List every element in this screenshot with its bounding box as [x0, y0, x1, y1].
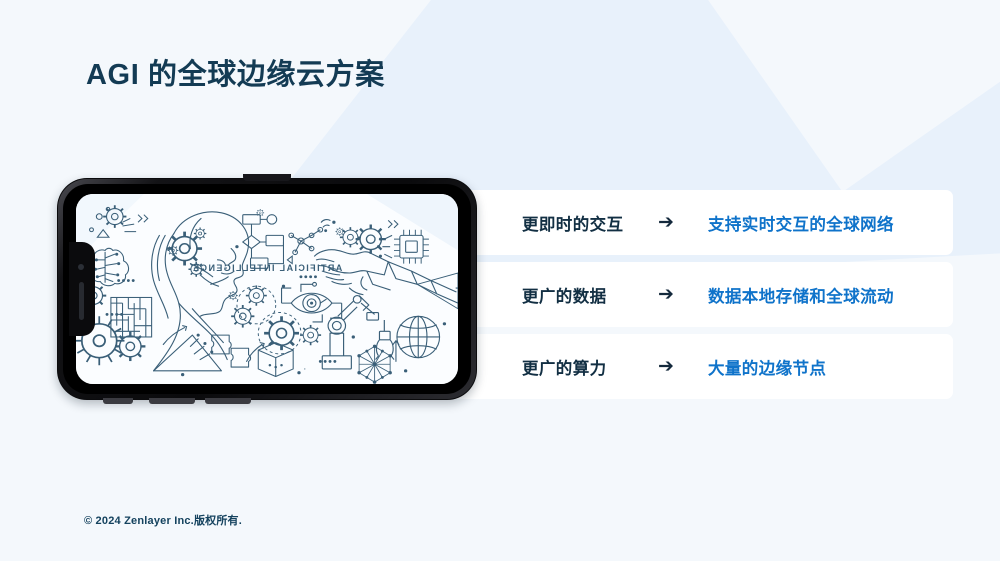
illustration-caption: ARTIFICIAL INTELLIGENCE [192, 263, 343, 273]
benefit-card-3-label: 更广的算力 [522, 355, 654, 379]
slide-canvas: AGI 的全球边缘云方案 [0, 0, 1000, 561]
copyright-footer: © 2024 Zenlayer Inc.版权所有. [84, 512, 242, 528]
background-shape-top-right [693, 0, 1000, 192]
phone-inner-frame: ARTIFICIAL INTELLIGENCE [63, 184, 471, 394]
benefit-card-2: 更广的数据 ➔ 数据本地存储和全球流动 [418, 262, 953, 327]
phone-speaker-icon [79, 282, 84, 320]
phone-top-nub [243, 174, 291, 181]
benefit-card-3-value: 大量的边缘节点 [708, 355, 953, 379]
arrow-right-icon: ➔ [654, 357, 708, 376]
benefit-card-2-value: 数据本地存储和全球流动 [708, 283, 953, 307]
phone-notch [69, 242, 95, 336]
benefit-card-1-value: 支持实时交互的全球网络 [708, 211, 953, 235]
benefit-card-2-label: 更广的数据 [522, 283, 654, 307]
phone-side-button-2[interactable] [149, 398, 195, 404]
phone-camera-icon [78, 264, 84, 270]
phone-body: ARTIFICIAL INTELLIGENCE [57, 178, 477, 400]
phone-screen: ARTIFICIAL INTELLIGENCE [76, 194, 458, 384]
benefit-card-1: 更即时的交互 ➔ 支持实时交互的全球网络 [418, 190, 953, 255]
arrow-right-icon: ➔ [654, 213, 708, 232]
phone-mockup: ARTIFICIAL INTELLIGENCE [57, 178, 477, 400]
benefit-card-list: 更即时的交互 ➔ 支持实时交互的全球网络 更广的数据 ➔ 数据本地存储和全球流动… [418, 190, 953, 406]
phone-side-button-1[interactable] [103, 398, 133, 404]
benefit-card-1-label: 更即时的交互 [522, 211, 654, 235]
ai-illustration: ARTIFICIAL INTELLIGENCE [76, 194, 458, 384]
page-title: AGI 的全球边缘云方案 [86, 51, 385, 93]
arrow-right-icon: ➔ [654, 285, 708, 304]
benefit-card-3: 更广的算力 ➔ 大量的边缘节点 [418, 334, 953, 399]
phone-side-button-3[interactable] [205, 398, 251, 404]
